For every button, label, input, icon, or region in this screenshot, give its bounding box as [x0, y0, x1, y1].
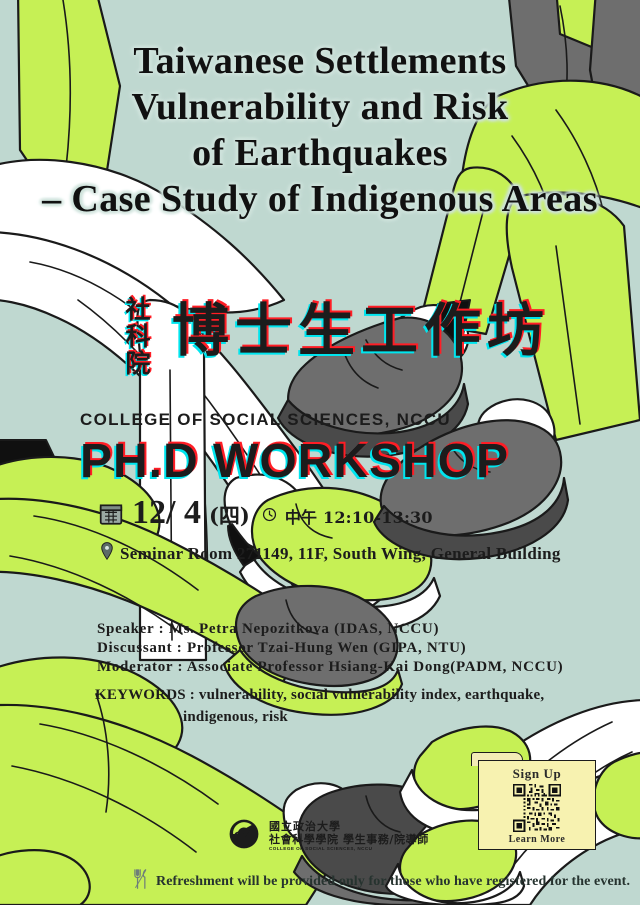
event-date: 12/ 4 — [132, 494, 201, 532]
people-block: Speaker : Ms. Petra Nepozitkova (IDAS, N… — [97, 620, 563, 677]
event-weekday: (四) — [209, 500, 250, 530]
keywords-line-2: indigenous, risk — [95, 706, 565, 728]
fork-knife-icon — [133, 869, 149, 894]
college-subtitle: COLLEGE OF SOCIAL SCIENCES, NCCU — [80, 410, 451, 430]
clock-icon — [262, 507, 277, 527]
workshop-headline: PH.D WORKSHOP — [80, 436, 509, 488]
event-time: 中午 12:10-13:30 — [285, 504, 433, 528]
calendar-icon — [98, 501, 124, 532]
speaker-line: Speaker : Ms. Petra Nepozitkova (IDAS, N… — [97, 620, 563, 639]
refreshment-note: Refreshment will be provided only for th… — [133, 869, 630, 894]
nccu-logo-icon — [228, 818, 260, 855]
signup-title: Sign Up — [513, 766, 562, 782]
schedule-date-row: 12/ 4 (四) 中午 12:10-13:30 — [98, 494, 433, 532]
refreshment-note-text: Refreshment will be provided only for th… — [156, 874, 630, 890]
main-chinese-headline: 博士生工作坊 — [172, 300, 550, 362]
schedule-venue-row: Seminar Room 271149, 11F, South Wing, Ge… — [100, 542, 561, 565]
event-venue: Seminar Room 271149, 11F, South Wing, Ge… — [120, 544, 561, 564]
signup-card[interactable]: Sign Up — [478, 760, 596, 850]
moderator-line: Moderator : Associate Professor Hsiang-K… — [97, 658, 563, 677]
discussant-line: Discussant : Professor Tzai-Hung Wen (GI… — [97, 639, 563, 658]
keywords-block: KEYWORDS : vulnerability, social vulnera… — [95, 684, 565, 728]
footer-logo-text: 國立政治大學 社會科學學院 學生事務/院導師 COLLEGE OF SOCIAL… — [269, 821, 429, 852]
signup-subtitle: Learn More — [509, 834, 566, 845]
location-pin-icon — [100, 542, 114, 565]
qr-code-icon[interactable] — [509, 782, 565, 834]
footer-logo: 國立政治大學 社會科學學院 學生事務/院導師 COLLEGE OF SOCIAL… — [228, 818, 429, 855]
keywords-line-1: KEYWORDS : vulnerability, social vulnera… — [95, 684, 565, 706]
vertical-chinese-label: 社科院 — [124, 296, 149, 377]
org-dept-cn: 社會科學學院 學生事務/院導師 — [269, 834, 429, 845]
org-name-cn: 國立政治大學 — [269, 821, 429, 832]
org-name-en: COLLEGE OF SOCIAL SCIENCES, NCCU — [269, 847, 429, 852]
event-poster: .ln{fill:none;stroke:#1a1a1a;stroke-widt… — [0, 0, 640, 905]
